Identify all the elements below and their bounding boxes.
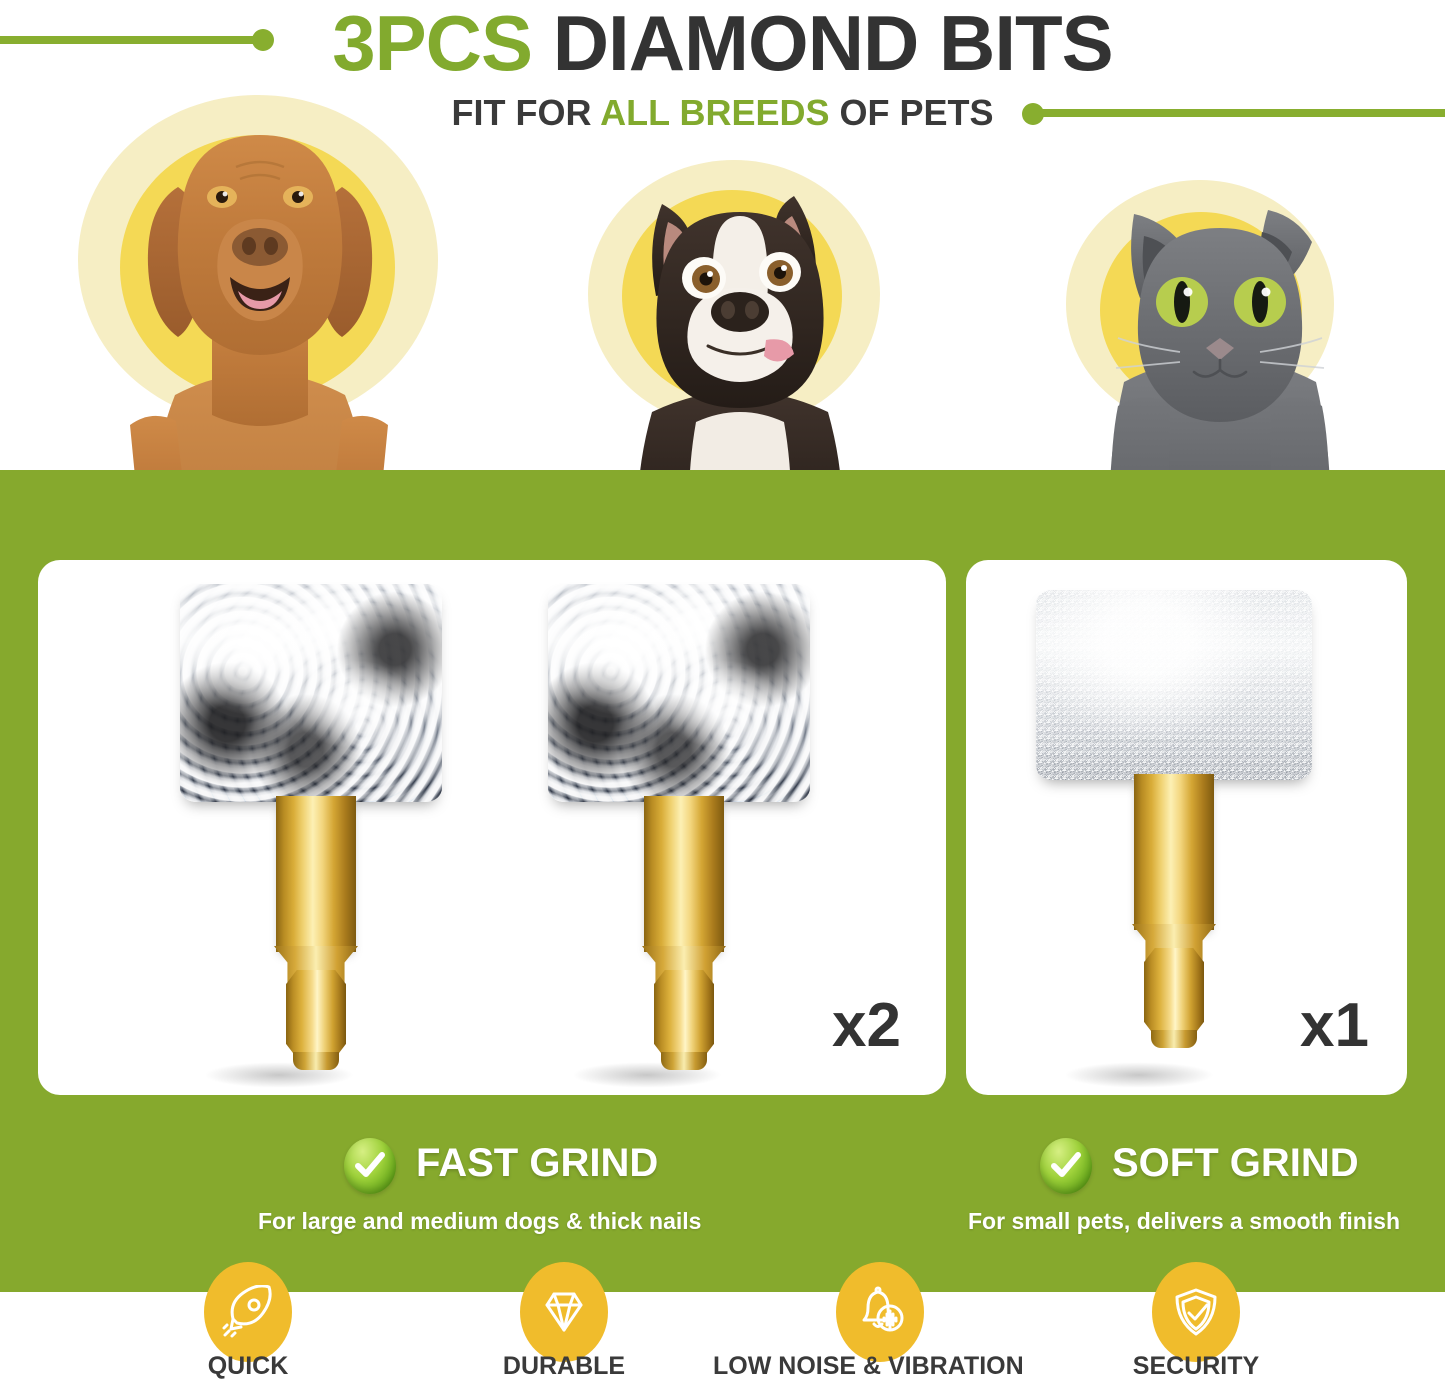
title-count: 3PCS — [332, 0, 532, 87]
diamond-bit-coarse-2 — [516, 570, 836, 1090]
bit-shank — [1134, 774, 1214, 930]
bit-hex-tip — [654, 970, 714, 1058]
subtitle-pre: FIT FOR — [451, 92, 600, 133]
check-circle-icon-soft — [1040, 1138, 1092, 1194]
bell-sound-icon — [836, 1262, 924, 1362]
bit-shank — [644, 796, 724, 952]
bit-hex-tip — [286, 970, 346, 1058]
feature-label-quick: QUICK — [148, 1352, 348, 1380]
feature-label-low-noise: LOW NOISE & VIBRATION — [713, 1352, 1013, 1380]
grind-title-soft: SOFT GRIND — [1112, 1141, 1359, 1186]
diamond-icon — [520, 1262, 608, 1362]
page-title: 3PCS DIAMOND BITS — [0, 0, 1445, 89]
diamond-bit-coarse-1 — [148, 570, 468, 1090]
bit-grinding-head — [548, 584, 810, 802]
subtitle-highlight: ALL BREEDS — [600, 92, 829, 133]
bit-tip — [661, 1052, 707, 1070]
grind-subtitle-fast: For large and medium dogs & thick nails — [258, 1208, 701, 1235]
check-circle-icon-fast — [344, 1138, 396, 1194]
quantity-badge-right: x1 — [1300, 990, 1369, 1061]
quantity-badge-left: x2 — [832, 990, 901, 1061]
product-infographic: 3PCS DIAMOND BITS FIT FOR ALL BREEDS OF … — [0, 0, 1445, 1380]
title-product: DIAMOND BITS — [532, 0, 1113, 87]
subtitle-accent-line — [1036, 109, 1445, 117]
bit-shank — [276, 796, 356, 952]
bit-hex-tip — [1144, 948, 1204, 1036]
rocket-icon — [204, 1262, 292, 1362]
grind-title-fast: FAST GRIND — [416, 1141, 658, 1186]
grind-label-row: FAST GRIND For large and medium dogs & t… — [0, 1120, 1445, 1230]
shield-check-icon — [1152, 1262, 1240, 1362]
diamond-bit-fine-1 — [1008, 582, 1328, 1092]
subtitle-post: OF PETS — [829, 92, 993, 133]
bit-grinding-head — [180, 584, 442, 802]
feature-label-security: SECURITY — [1096, 1352, 1296, 1380]
grind-subtitle-soft: For small pets, delivers a smooth finish — [968, 1208, 1400, 1235]
bit-tip — [293, 1052, 339, 1070]
bit-tip — [1151, 1030, 1197, 1048]
feature-label-durable: DURABLE — [464, 1352, 664, 1380]
fast-grind-card — [38, 560, 946, 1095]
bit-grinding-head — [1036, 590, 1312, 780]
